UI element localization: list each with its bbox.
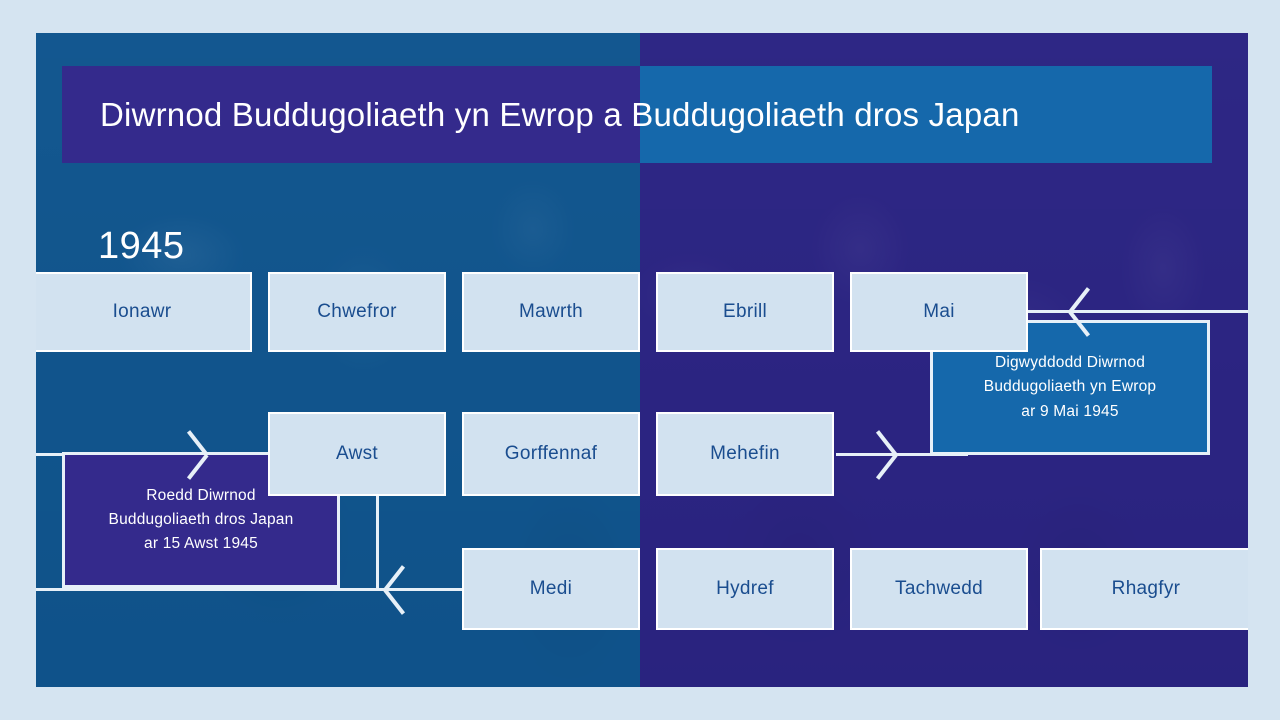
- arrow-right-icon-into-medi: [385, 564, 419, 616]
- callout-vj-day-line1: Roedd Diwrnod: [109, 484, 294, 508]
- month-chip-hydref-label: Hydref: [716, 578, 774, 600]
- month-chip-ebrill-label: Ebrill: [723, 301, 767, 323]
- year-label: 1945: [98, 225, 185, 268]
- month-chip-gorffennaf-label: Gorffennaf: [505, 443, 597, 465]
- month-chip-mehefin[interactable]: Mehefin: [656, 412, 834, 496]
- month-chip-rhagfyr-label: Rhagfyr: [1112, 578, 1181, 600]
- month-chip-gorffennaf[interactable]: Gorffennaf: [462, 412, 640, 496]
- arrow-left-icon-into-mehefin: [862, 429, 896, 481]
- month-chip-tachwedd-label: Tachwedd: [895, 578, 983, 600]
- month-chip-medi[interactable]: Medi: [462, 548, 640, 630]
- month-chip-mawrth-label: Mawrth: [519, 301, 583, 323]
- month-chip-chwefror-label: Chwefror: [317, 301, 396, 323]
- month-chip-mawrth[interactable]: Mawrth: [462, 272, 640, 352]
- page-title: Diwrnod Buddugoliaeth yn Ewrop a Buddugo…: [62, 66, 1212, 163]
- arrow-left-icon-before-awst: [173, 429, 207, 481]
- month-chip-tachwedd[interactable]: Tachwedd: [850, 548, 1028, 630]
- month-chip-rhagfyr[interactable]: Rhagfyr: [1040, 548, 1248, 630]
- callout-vj-day-line3: ar 15 Awst 1945: [109, 532, 294, 556]
- month-chip-awst-label: Awst: [336, 443, 378, 465]
- month-chip-awst[interactable]: Awst: [268, 412, 446, 496]
- timeline-panel: Diwrnod Buddugoliaeth yn Ewrop a Buddugo…: [36, 33, 1248, 687]
- callout-ve-day-line2: Buddugoliaeth yn Ewrop: [984, 375, 1156, 399]
- connector-row1-tail: [1028, 310, 1248, 313]
- month-chip-medi-label: Medi: [530, 578, 572, 600]
- connector-awst-to-medi: [376, 491, 379, 591]
- callout-ve-day-line3: ar 9 Mai 1945: [984, 400, 1156, 424]
- month-chip-mai-label: Mai: [923, 301, 955, 323]
- arrow-right-icon-after-mai: [1070, 286, 1104, 338]
- callout-ve-day-line1: Digwyddodd Diwrnod: [984, 351, 1156, 375]
- month-chip-chwefror[interactable]: Chwefror: [268, 272, 446, 352]
- month-chip-mehefin-label: Mehefin: [710, 443, 780, 465]
- callout-vj-day-line2: Buddugoliaeth dros Japan: [109, 508, 294, 532]
- slide-canvas: Diwrnod Buddugoliaeth yn Ewrop a Buddugo…: [0, 0, 1280, 720]
- month-chip-ionawr[interactable]: Ionawr: [36, 272, 252, 352]
- title-banner: Diwrnod Buddugoliaeth yn Ewrop a Buddugo…: [62, 66, 1212, 163]
- month-chip-ionawr-label: Ionawr: [113, 301, 172, 323]
- month-chip-hydref[interactable]: Hydref: [656, 548, 834, 630]
- month-chip-mai[interactable]: Mai: [850, 272, 1028, 352]
- month-chip-ebrill[interactable]: Ebrill: [656, 272, 834, 352]
